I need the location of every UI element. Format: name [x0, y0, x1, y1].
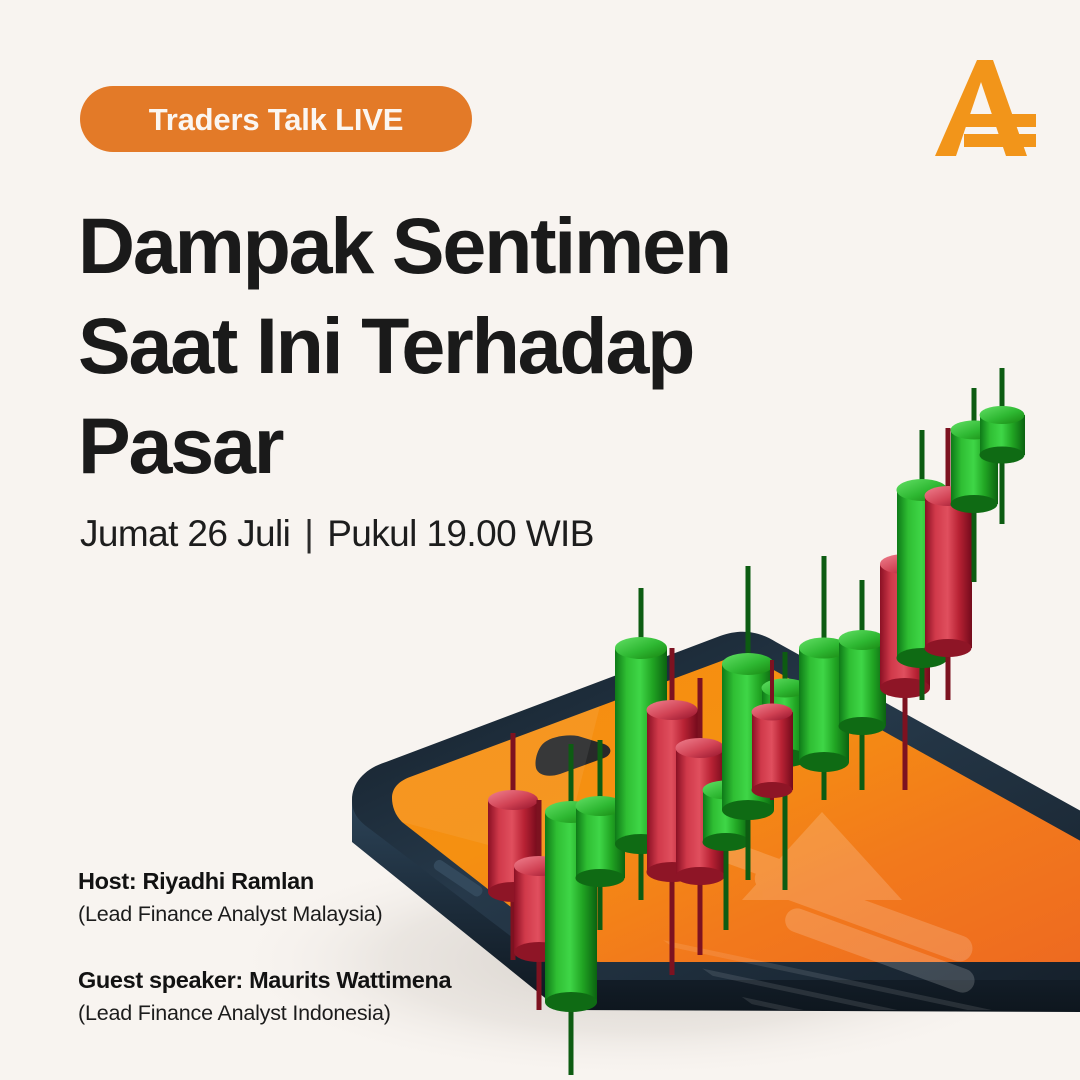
candle-up	[615, 588, 667, 900]
candle-up	[545, 744, 597, 1075]
poster-canvas: Traders Talk LIVE Dampak Sentimen Saat I…	[0, 0, 1080, 1080]
candle-up	[703, 742, 751, 930]
candle-down	[488, 733, 538, 960]
candle-up	[722, 566, 774, 880]
host-block: Host: Riyadhi Ramlan (Lead Finance Analy…	[78, 866, 451, 929]
brand-logo-icon	[930, 56, 1040, 160]
event-date: Jumat 26 Juli	[80, 515, 290, 552]
headline-line-2: Saat Ini Terhadap	[78, 296, 798, 396]
datetime-separator: |	[304, 515, 313, 552]
candle-up	[762, 652, 810, 890]
headline-line-1: Dampak Sentimen	[78, 196, 798, 296]
host-name: Host: Riyadhi Ramlan	[78, 866, 451, 897]
candle-up	[576, 740, 626, 930]
candle-up	[951, 388, 999, 582]
speaker-list: Host: Riyadhi Ramlan (Lead Finance Analy…	[78, 866, 451, 1065]
candle-down	[647, 648, 699, 975]
guest-role: (Lead Finance Analyst Indonesia)	[78, 999, 451, 1028]
guest-name: Guest speaker: Maurits Wattimena	[78, 965, 451, 996]
host-role: (Lead Finance Analyst Malaysia)	[78, 900, 451, 929]
page-title: Dampak Sentimen Saat Ini Terhadap Pasar	[78, 196, 798, 496]
candle-up	[897, 430, 949, 700]
event-time: Pukul 19.00 WIB	[327, 515, 594, 552]
candle-down	[752, 660, 794, 800]
badge-label: Traders Talk LIVE	[149, 104, 403, 135]
headline-line-3: Pasar	[78, 396, 798, 496]
guest-block: Guest speaker: Maurits Wattimena (Lead F…	[78, 965, 451, 1028]
phone-device	[352, 632, 1080, 1080]
traders-talk-live-badge[interactable]: Traders Talk LIVE	[80, 86, 472, 152]
candle-up	[839, 580, 887, 790]
candle-down	[514, 800, 564, 1010]
candle-up	[799, 556, 849, 800]
candle-down	[676, 678, 726, 955]
event-datetime: Jumat 26 Juli | Pukul 19.00 WIB	[80, 515, 594, 552]
candle-down	[925, 428, 973, 700]
candle-down	[880, 498, 930, 790]
candle-up	[980, 368, 1026, 524]
